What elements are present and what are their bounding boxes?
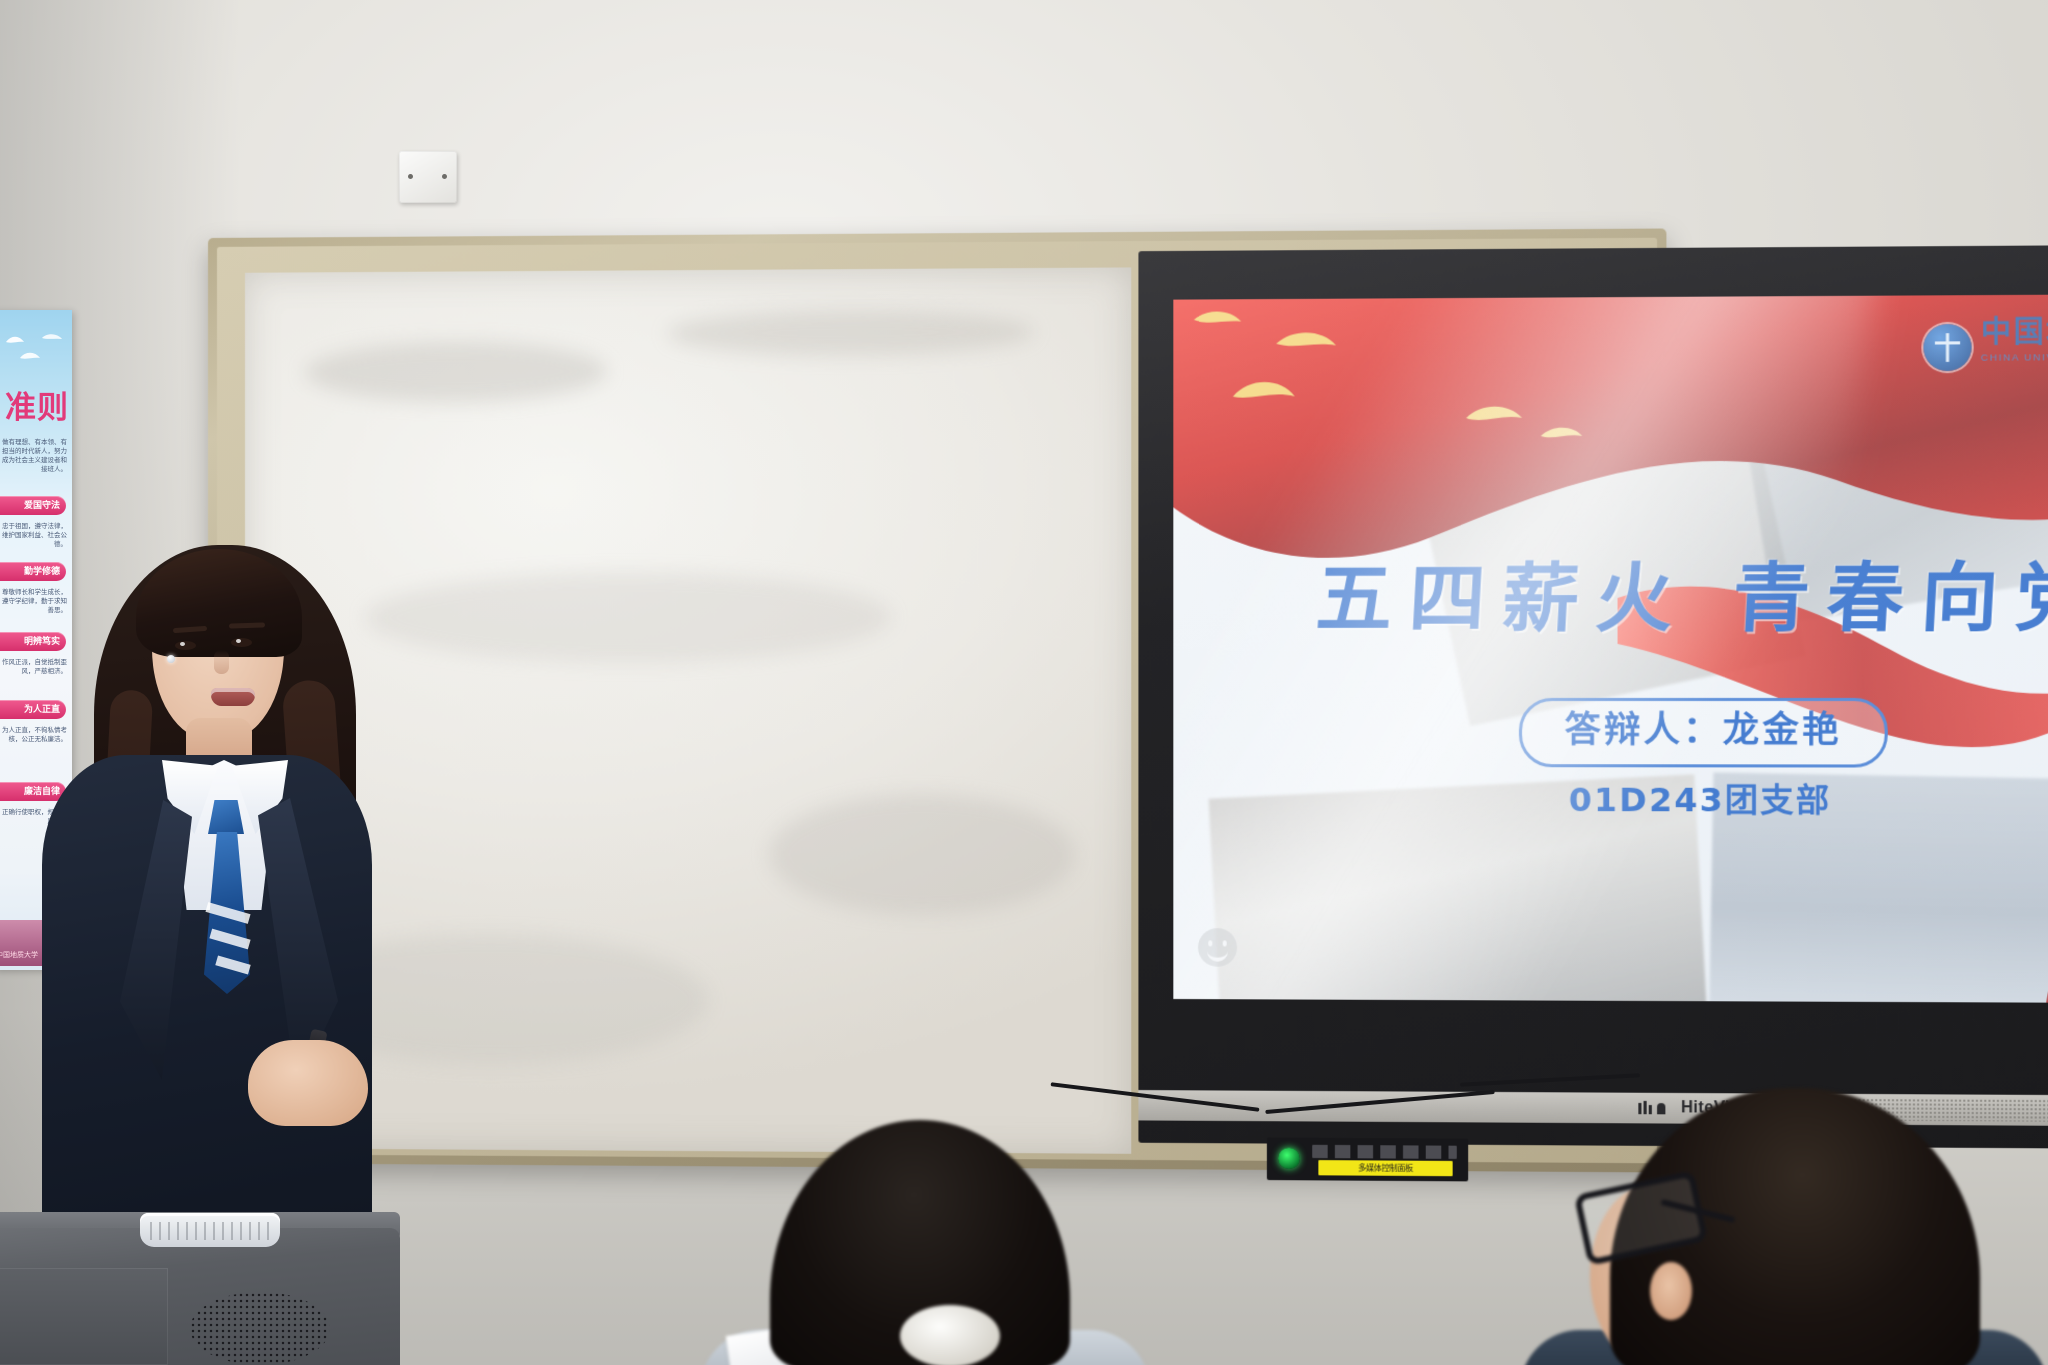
poster-heading: 准则 <box>0 382 72 427</box>
presenter-hands <box>248 1040 368 1126</box>
poster-section-label-2: 勤学修德 <box>0 562 66 581</box>
smart-display[interactable]: 中国地质大学 CHINA UNIVERSITY OF GEOSCIENCES 武… <box>1138 244 2048 1150</box>
switch-screw-right <box>442 174 447 179</box>
youth-league-branch-text: 01D243团支部 <box>1519 774 1882 821</box>
wall-switch-plate[interactable] <box>399 151 457 203</box>
port-strip[interactable] <box>1312 1145 1457 1159</box>
lectern-front-panel <box>0 1268 168 1365</box>
presentation-slide: 中国地质大学 CHINA UNIVERSITY OF GEOSCIENCES 武… <box>1173 294 2048 1004</box>
hair-scrunchie <box>900 1305 1000 1365</box>
presenter-name-text: 答辩人：龙金艳 <box>1522 701 1885 760</box>
whiteboard-surface[interactable] <box>245 267 1131 1153</box>
university-chinese-name: 中国地质大学 <box>1981 316 2048 347</box>
university-english-name: CHINA UNIVERSITY OF GEOSCIENCES <box>1981 351 2048 363</box>
presenter-mouth <box>211 688 255 706</box>
smiley-face-icon <box>1198 928 1237 967</box>
poster-intro-text: 做有理想、有本领、有担当的时代新人，努力成为社会主义建设者和接班人。 <box>0 438 70 474</box>
audience-member-front-right-ear <box>1650 1262 1692 1320</box>
dove-icon <box>0 324 68 378</box>
gold-dove-icon <box>1173 294 2048 1004</box>
power-button-icon[interactable] <box>1278 1148 1300 1169</box>
slide-title: 五四薪火 青春向党 <box>1242 537 2048 648</box>
presenter-name-badge: 答辩人：龙金艳 <box>1519 698 1888 768</box>
poster-section-body-3: 作风正派，自觉抵制歪风，严慈相济。 <box>0 658 70 676</box>
poster-section-pill-5: 廉洁自律 <box>0 782 66 801</box>
presenter-nose <box>214 650 229 674</box>
poster-section-pill-3: 明辨笃实 <box>0 632 66 651</box>
presenter-earring <box>167 655 175 663</box>
presenter-eye-highlight-left <box>180 642 185 646</box>
poster-section-label-3: 明辨笃实 <box>0 632 66 651</box>
paper-cup-ribs <box>150 1222 270 1240</box>
display-screen[interactable]: 中国地质大学 CHINA UNIVERSITY OF GEOSCIENCES 武… <box>1173 294 2048 1004</box>
control-panel-label: 多媒体控制面板 <box>1318 1160 1452 1176</box>
presenter-eye-right <box>231 638 252 647</box>
classroom-scene: 准则 做有理想、有本领、有担当的时代新人，努力成为社会主义建设者和接班人。 爱国… <box>0 0 2048 1365</box>
poster-section-body-4: 为人正直，不徇私情考核，公正无私廉洁。 <box>0 726 70 744</box>
poster-section-pill-4: 为人正直 <box>0 700 66 719</box>
media-control-panel[interactable]: 多媒体控制面板 <box>1267 1137 1468 1181</box>
poster-section-label-1: 爱国守法 <box>0 496 66 515</box>
poster-section-body-2: 尊敬师长和学生成长，遵守学纪律，勤于求知善思。 <box>0 588 70 615</box>
university-campus: 武汉 · Wuhan <box>1981 365 2048 377</box>
switch-screw-left <box>408 174 413 179</box>
board-frame-inner: 中国地质大学 CHINA UNIVERSITY OF GEOSCIENCES 武… <box>217 238 1657 1164</box>
poster-section-body-1: 忠于祖国，遵守法律，维护国家利益、社会公德。 <box>0 522 70 549</box>
poster-section-pill-1: 爱国守法 <box>0 496 66 515</box>
poster-section-label-4: 为人正直 <box>0 700 66 719</box>
university-logo: 中国地质大学 CHINA UNIVERSITY OF GEOSCIENCES 武… <box>1923 316 2048 377</box>
lectern-speaker-grille <box>190 1292 330 1365</box>
poster-section-pill-2: 勤学修德 <box>0 562 66 581</box>
presenter-eye-highlight-right <box>236 639 241 643</box>
presenter-eye-left <box>175 641 196 650</box>
poster-section-label-5: 廉洁自律 <box>0 782 66 801</box>
university-seal-icon <box>1923 324 1971 371</box>
board-frame: 中国地质大学 CHINA UNIVERSITY OF GEOSCIENCES 武… <box>208 228 1666 1172</box>
hitevision-logo-icon <box>1638 1100 1673 1116</box>
